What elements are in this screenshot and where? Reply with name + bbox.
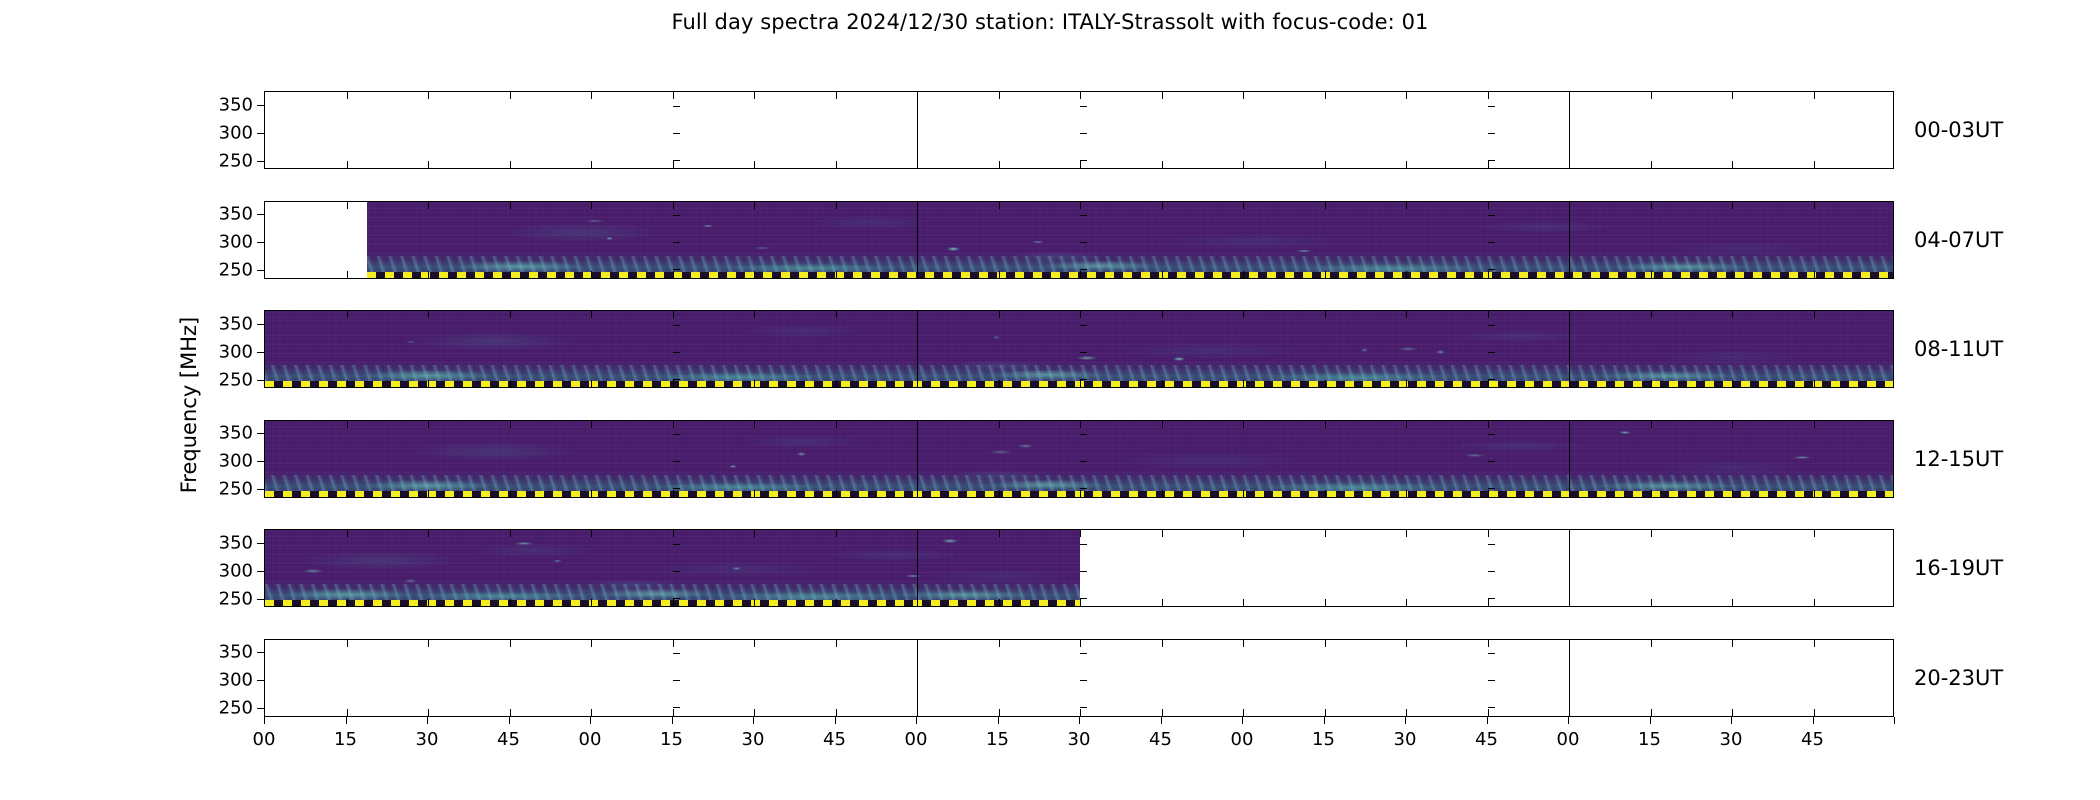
x-tick-mark xyxy=(836,421,837,428)
y-tick-mark xyxy=(1080,379,1087,380)
x-tick-mark xyxy=(1814,380,1815,387)
bright-source xyxy=(1619,431,1631,434)
x-tick-mark xyxy=(1162,599,1163,606)
y-tick-mark xyxy=(257,599,264,600)
y-tick-mark xyxy=(1080,680,1087,681)
y-tick-mark xyxy=(257,324,264,325)
y-tick-mark xyxy=(257,489,264,490)
y-tick-label: 250 xyxy=(219,479,253,500)
y-tick-mark xyxy=(673,571,680,572)
x-tick-mark xyxy=(673,202,674,209)
x-tick-mark xyxy=(1406,421,1407,428)
x-tick-mark xyxy=(1488,599,1489,606)
x-tick-mark xyxy=(510,161,511,168)
row-time-label: 20-23UT xyxy=(1914,666,2003,690)
x-tick-mark xyxy=(999,380,1000,387)
x-tick-mark xyxy=(673,92,674,99)
x-tick-mark xyxy=(591,709,592,716)
x-tick-mark xyxy=(1488,380,1489,387)
x-tick-mark xyxy=(999,530,1000,537)
row-time-label: 08-11UT xyxy=(1914,337,2003,361)
y-tick-mark xyxy=(257,652,264,653)
bright-source xyxy=(993,336,1000,338)
spectrogram-data xyxy=(367,202,1894,278)
y-tick-mark xyxy=(673,215,680,216)
y-tick-mark xyxy=(1080,352,1087,353)
x-tick-mark xyxy=(1488,202,1489,209)
bright-source xyxy=(303,569,323,573)
x-tick-mark xyxy=(1651,421,1652,428)
x-tick-mark xyxy=(1406,490,1407,497)
y-tick-mark xyxy=(257,461,264,462)
x-tick-mark xyxy=(428,161,429,168)
y-tick-label: 350 xyxy=(219,423,253,444)
detection-marker-line xyxy=(367,272,1894,278)
x-tick-mark xyxy=(428,421,429,428)
x-tick-mark xyxy=(1814,271,1815,278)
x-tick-mark xyxy=(835,717,836,724)
y-tick-mark xyxy=(1488,133,1495,134)
x-tick-mark xyxy=(1405,717,1406,724)
x-tick-mark xyxy=(1569,380,1570,387)
x-tick-label: 00 xyxy=(905,729,928,750)
y-tick-mark xyxy=(1080,488,1087,489)
x-tick-mark xyxy=(754,92,755,99)
x-tick-mark xyxy=(1080,421,1081,428)
x-tick-mark xyxy=(673,421,674,428)
y-tick-mark xyxy=(1080,133,1087,134)
x-tick-mark xyxy=(347,271,348,278)
y-tick-mark xyxy=(257,680,264,681)
hour-divider xyxy=(917,311,918,387)
x-tick-mark xyxy=(591,530,592,537)
hour-divider xyxy=(917,640,918,716)
y-tick-label: 350 xyxy=(219,94,253,115)
x-tick-mark xyxy=(1324,717,1325,724)
x-tick-mark xyxy=(836,202,837,209)
y-tick-mark xyxy=(1080,106,1087,107)
x-tick-mark xyxy=(1161,717,1162,724)
x-tick-mark xyxy=(1080,599,1081,606)
y-tick-label: 250 xyxy=(219,260,253,281)
x-tick-mark xyxy=(1406,530,1407,537)
x-tick-label: 00 xyxy=(579,729,602,750)
y-tick-mark xyxy=(257,571,264,572)
y-tick-mark xyxy=(1488,434,1495,435)
bright-source xyxy=(905,575,922,577)
x-tick-mark xyxy=(999,421,1000,428)
x-tick-mark xyxy=(754,380,755,387)
y-tick-label: 300 xyxy=(219,122,253,143)
x-tick-mark xyxy=(917,311,918,318)
bright-source xyxy=(1296,250,1312,252)
x-tick-mark xyxy=(673,490,674,497)
row-time-label: 00-03UT xyxy=(1914,118,2003,142)
x-tick-mark xyxy=(591,380,592,387)
x-tick-mark xyxy=(1080,271,1081,278)
x-tick-mark xyxy=(347,709,348,716)
spectrogram-panel: 2503003500015304500153045001530450015304… xyxy=(264,639,1894,717)
bright-source xyxy=(1465,454,1484,456)
x-tick-mark xyxy=(347,421,348,428)
y-tick-label: 300 xyxy=(219,232,253,253)
y-tick-label: 350 xyxy=(219,642,253,663)
x-tick-mark xyxy=(673,380,674,387)
x-tick-label: 30 xyxy=(1394,729,1417,750)
x-tick-mark xyxy=(1569,92,1570,99)
x-tick-mark xyxy=(591,421,592,428)
x-tick-mark xyxy=(1406,709,1407,716)
x-tick-mark xyxy=(836,490,837,497)
x-tick-mark xyxy=(754,490,755,497)
y-tick-mark xyxy=(257,380,264,381)
x-tick-mark xyxy=(1569,530,1570,537)
x-tick-mark xyxy=(1406,380,1407,387)
x-tick-mark xyxy=(1651,92,1652,99)
y-tick-mark xyxy=(673,352,680,353)
x-tick-mark xyxy=(1325,530,1326,537)
y-tick-label: 250 xyxy=(219,698,253,719)
x-tick-mark xyxy=(428,271,429,278)
x-tick-mark xyxy=(1243,311,1244,318)
x-tick-mark xyxy=(1243,202,1244,209)
x-tick-mark xyxy=(1162,380,1163,387)
y-tick-label: 250 xyxy=(219,150,253,171)
x-tick-mark xyxy=(754,271,755,278)
y-tick-label: 300 xyxy=(219,560,253,581)
x-tick-mark xyxy=(1732,490,1733,497)
hour-divider xyxy=(917,202,918,278)
x-tick-label: 15 xyxy=(660,729,683,750)
x-tick-mark xyxy=(999,161,1000,168)
hour-divider xyxy=(917,92,918,168)
x-tick-mark xyxy=(1242,717,1243,724)
x-tick-mark xyxy=(1325,599,1326,606)
bright-source xyxy=(1077,356,1096,359)
x-tick-mark xyxy=(428,92,429,99)
x-tick-mark xyxy=(428,709,429,716)
x-tick-mark xyxy=(428,311,429,318)
y-tick-mark xyxy=(1488,352,1495,353)
x-tick-mark xyxy=(1814,490,1815,497)
x-tick-mark xyxy=(1732,530,1733,537)
x-tick-mark xyxy=(1406,92,1407,99)
x-tick-mark xyxy=(510,311,511,318)
x-tick-mark xyxy=(1325,161,1326,168)
x-tick-label: 30 xyxy=(1720,729,1743,750)
x-tick-mark xyxy=(836,709,837,716)
y-tick-mark xyxy=(673,106,680,107)
x-tick-mark xyxy=(428,380,429,387)
x-tick-mark xyxy=(754,640,755,647)
x-tick-mark xyxy=(591,311,592,318)
panel-axes xyxy=(264,529,1894,607)
x-tick-label: 15 xyxy=(334,729,357,750)
y-tick-mark xyxy=(1080,707,1087,708)
panel-axes xyxy=(264,639,1894,717)
y-tick-mark xyxy=(1488,269,1495,270)
x-tick-mark xyxy=(428,640,429,647)
x-tick-mark xyxy=(1569,311,1570,318)
x-tick-mark xyxy=(1651,530,1652,537)
x-tick-mark xyxy=(1325,709,1326,716)
x-tick-mark xyxy=(591,490,592,497)
x-tick-mark xyxy=(510,421,511,428)
y-tick-mark xyxy=(257,270,264,271)
x-tick-mark xyxy=(836,380,837,387)
x-tick-mark xyxy=(917,530,918,537)
y-tick-label: 350 xyxy=(219,532,253,553)
x-tick-mark xyxy=(917,202,918,209)
x-tick-mark xyxy=(1814,530,1815,537)
hour-divider xyxy=(917,530,918,606)
y-tick-mark xyxy=(257,708,264,709)
x-tick-mark xyxy=(673,709,674,716)
x-tick-mark xyxy=(998,717,999,724)
x-tick-mark xyxy=(1243,92,1244,99)
x-tick-mark xyxy=(1814,161,1815,168)
y-tick-mark xyxy=(673,544,680,545)
x-tick-mark xyxy=(917,271,918,278)
x-tick-mark xyxy=(1079,717,1080,724)
y-tick-label: 250 xyxy=(219,369,253,390)
x-tick-mark xyxy=(917,599,918,606)
x-tick-mark xyxy=(1406,599,1407,606)
y-tick-mark xyxy=(673,325,680,326)
x-tick-mark xyxy=(1325,380,1326,387)
x-tick-mark xyxy=(590,717,591,724)
x-tick-label: 00 xyxy=(253,729,276,750)
x-tick-mark xyxy=(1569,640,1570,647)
x-tick-mark xyxy=(428,202,429,209)
x-tick-mark xyxy=(1488,271,1489,278)
y-tick-mark xyxy=(1488,707,1495,708)
y-tick-mark xyxy=(257,214,264,215)
hour-divider xyxy=(1569,530,1570,606)
x-tick-mark xyxy=(999,271,1000,278)
x-tick-mark xyxy=(1080,161,1081,168)
hour-divider xyxy=(1569,640,1570,716)
x-tick-mark xyxy=(1651,311,1652,318)
spectrogram-figure: Full day spectra 2024/12/30 station: ITA… xyxy=(0,0,2100,800)
x-tick-mark xyxy=(673,640,674,647)
x-tick-mark xyxy=(673,161,674,168)
y-tick-mark xyxy=(1488,461,1495,462)
y-tick-mark xyxy=(673,242,680,243)
x-tick-mark xyxy=(1732,202,1733,209)
x-tick-mark xyxy=(1243,709,1244,716)
x-tick-mark xyxy=(1080,380,1081,387)
x-tick-mark xyxy=(1732,640,1733,647)
x-tick-mark xyxy=(1814,92,1815,99)
y-tick-mark xyxy=(1488,106,1495,107)
spectrogram-panel: 25030035000-03UT xyxy=(264,91,1894,169)
x-tick-mark xyxy=(347,161,348,168)
x-tick-mark xyxy=(510,92,511,99)
x-tick-mark xyxy=(428,599,429,606)
bright-source xyxy=(606,237,613,240)
y-tick-mark xyxy=(1488,488,1495,489)
panel-axes xyxy=(264,91,1894,169)
x-tick-mark xyxy=(1569,709,1570,716)
x-tick-mark xyxy=(347,490,348,497)
x-tick-mark xyxy=(347,311,348,318)
x-tick-label: 30 xyxy=(416,729,439,750)
x-tick-mark xyxy=(347,202,348,209)
x-tick-mark xyxy=(1162,92,1163,99)
y-tick-mark xyxy=(1080,598,1087,599)
x-tick-mark xyxy=(1162,202,1163,209)
y-tick-mark xyxy=(1488,242,1495,243)
x-tick-label: 45 xyxy=(823,729,846,750)
x-tick-mark xyxy=(999,202,1000,209)
y-tick-label: 300 xyxy=(219,451,253,472)
y-tick-mark xyxy=(1080,160,1087,161)
x-tick-mark xyxy=(1732,161,1733,168)
x-tick-mark xyxy=(999,311,1000,318)
y-tick-mark xyxy=(257,433,264,434)
x-tick-mark xyxy=(1814,640,1815,647)
bright-source xyxy=(990,450,1012,454)
hour-divider xyxy=(1569,421,1570,497)
y-tick-mark xyxy=(673,160,680,161)
x-tick-mark xyxy=(1488,161,1489,168)
x-tick-mark xyxy=(1488,421,1489,428)
x-tick-mark xyxy=(1080,92,1081,99)
x-tick-mark xyxy=(591,599,592,606)
x-tick-mark xyxy=(1325,421,1326,428)
x-tick-mark xyxy=(1080,709,1081,716)
x-tick-mark xyxy=(1813,717,1814,724)
y-tick-mark xyxy=(1080,269,1087,270)
x-tick-mark xyxy=(1651,640,1652,647)
y-axis-label-text: Frequency [MHz] xyxy=(177,317,201,493)
x-tick-mark xyxy=(1651,490,1652,497)
x-tick-mark xyxy=(346,717,347,724)
row-time-label: 16-19UT xyxy=(1914,556,2003,580)
x-tick-mark xyxy=(1488,709,1489,716)
x-tick-mark xyxy=(1243,380,1244,387)
x-tick-mark xyxy=(1894,717,1895,724)
x-tick-label: 45 xyxy=(1475,729,1498,750)
x-tick-mark xyxy=(754,311,755,318)
x-tick-mark xyxy=(1243,271,1244,278)
x-tick-mark xyxy=(1243,599,1244,606)
x-tick-mark xyxy=(754,421,755,428)
x-tick-label: 00 xyxy=(1231,729,1254,750)
x-tick-mark xyxy=(510,202,511,209)
x-tick-mark xyxy=(1243,161,1244,168)
x-tick-mark xyxy=(510,490,511,497)
x-tick-mark xyxy=(1488,311,1489,318)
x-tick-mark xyxy=(1569,421,1570,428)
x-tick-mark xyxy=(836,271,837,278)
hour-divider xyxy=(1569,311,1570,387)
bright-source xyxy=(729,465,737,468)
x-tick-mark xyxy=(1406,202,1407,209)
panel-axes xyxy=(264,310,1894,388)
x-tick-mark xyxy=(999,490,1000,497)
y-tick-mark xyxy=(1488,160,1495,161)
x-tick-label: 00 xyxy=(1557,729,1580,750)
y-tick-mark xyxy=(1488,571,1495,572)
y-axis-label: Frequency [MHz] xyxy=(175,90,203,720)
x-tick-mark xyxy=(510,640,511,647)
x-tick-mark xyxy=(1814,599,1815,606)
y-tick-mark xyxy=(673,488,680,489)
x-tick-mark xyxy=(836,311,837,318)
x-tick-mark xyxy=(1325,271,1326,278)
y-tick-mark xyxy=(257,161,264,162)
x-tick-label: 30 xyxy=(742,729,765,750)
x-tick-mark xyxy=(1243,530,1244,537)
y-tick-mark xyxy=(673,434,680,435)
x-tick-mark xyxy=(1162,421,1163,428)
x-tick-mark xyxy=(1325,92,1326,99)
x-tick-mark xyxy=(1243,490,1244,497)
x-tick-mark xyxy=(1731,717,1732,724)
x-tick-mark xyxy=(591,202,592,209)
x-tick-mark xyxy=(1814,202,1815,209)
x-tick-mark xyxy=(1325,490,1326,497)
y-tick-mark xyxy=(1488,325,1495,326)
x-tick-mark xyxy=(347,599,348,606)
spectrogram-panel: 25030035004-07UT xyxy=(264,201,1894,279)
x-tick-mark xyxy=(264,717,265,724)
y-tick-mark xyxy=(1080,325,1087,326)
x-tick-mark xyxy=(917,640,918,647)
x-tick-label: 45 xyxy=(1801,729,1824,750)
x-tick-mark xyxy=(1406,311,1407,318)
x-tick-mark xyxy=(999,709,1000,716)
x-tick-mark xyxy=(1162,161,1163,168)
x-tick-mark xyxy=(1080,311,1081,318)
x-tick-mark xyxy=(836,599,837,606)
x-tick-mark xyxy=(1568,717,1569,724)
x-tick-mark xyxy=(1651,709,1652,716)
y-tick-mark xyxy=(1080,434,1087,435)
x-tick-mark xyxy=(1162,709,1163,716)
spectrogram-panel: 25030035008-11UT xyxy=(264,310,1894,388)
spectrogram-panel: 25030035012-15UT xyxy=(264,420,1894,498)
page-title: Full day spectra 2024/12/30 station: ITA… xyxy=(0,10,2100,34)
x-tick-mark xyxy=(754,530,755,537)
x-tick-mark xyxy=(1732,271,1733,278)
y-tick-mark xyxy=(673,133,680,134)
x-tick-mark xyxy=(1732,380,1733,387)
hour-divider xyxy=(917,421,918,497)
bright-source xyxy=(404,579,417,583)
x-tick-mark xyxy=(1488,530,1489,537)
spectrogram-data xyxy=(265,311,1894,387)
spectrogram-panel: 25030035016-19UT xyxy=(264,529,1894,607)
x-tick-mark xyxy=(1243,640,1244,647)
x-tick-mark xyxy=(347,640,348,647)
x-tick-mark xyxy=(1162,640,1163,647)
x-tick-mark xyxy=(1406,161,1407,168)
x-tick-mark xyxy=(1487,717,1488,724)
x-tick-mark xyxy=(347,92,348,99)
x-tick-mark xyxy=(1325,640,1326,647)
y-tick-label: 300 xyxy=(219,670,253,691)
x-tick-mark xyxy=(510,599,511,606)
x-tick-mark xyxy=(1732,709,1733,716)
x-tick-mark xyxy=(1080,490,1081,497)
x-tick-mark xyxy=(1243,421,1244,428)
y-tick-mark xyxy=(1080,215,1087,216)
x-tick-mark xyxy=(917,161,918,168)
x-tick-mark xyxy=(1325,202,1326,209)
